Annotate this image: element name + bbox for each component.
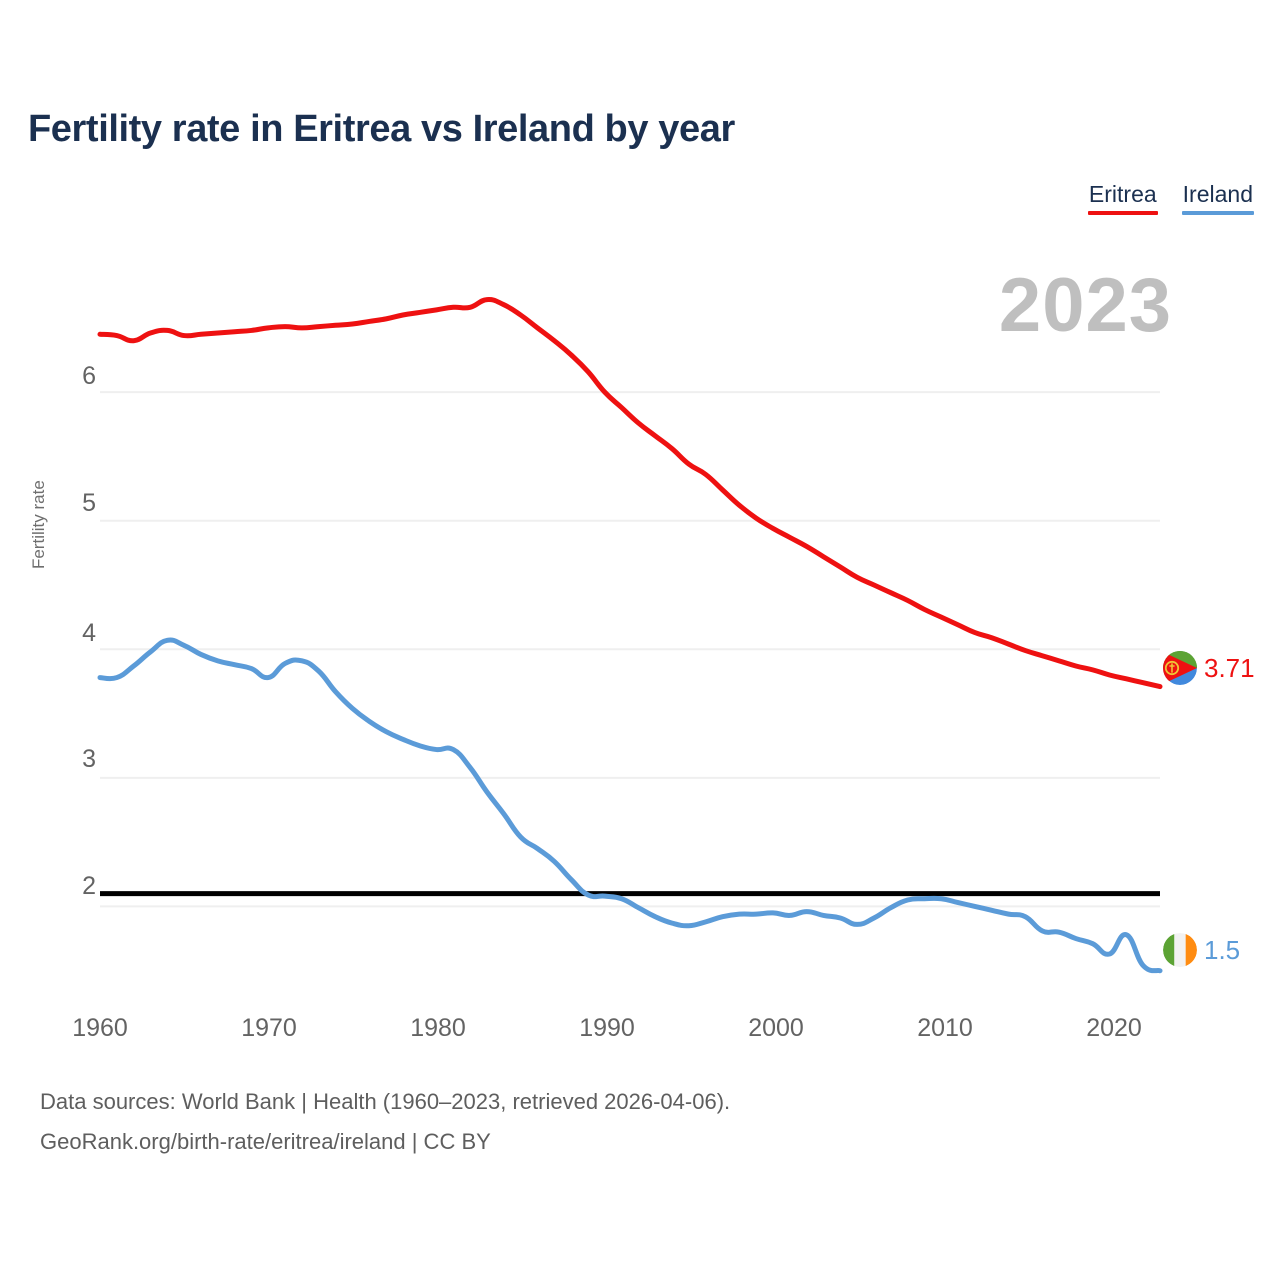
legend-swatch-eritrea	[1088, 211, 1158, 215]
legend-item-ireland[interactable]: Ireland	[1182, 183, 1254, 215]
end-marker-ireland[interactable]: 1.5	[1163, 933, 1240, 967]
eritrea-flag-icon	[1163, 651, 1197, 685]
end-value-ireland: 1.5	[1204, 937, 1240, 963]
legend-swatch-ireland	[1182, 211, 1254, 215]
y-tick-2: 2	[56, 872, 96, 901]
x-tick-2020: 2020	[1054, 1014, 1174, 1043]
y-tick-6: 6	[56, 362, 96, 391]
x-tick-1990: 1990	[547, 1014, 667, 1043]
y-axis-title: Fertility rate	[29, 409, 49, 569]
y-tick-4: 4	[56, 619, 96, 648]
legend-label-ireland: Ireland	[1182, 183, 1254, 211]
footer-line-1: Data sources: World Bank | Health (1960–…	[40, 1082, 730, 1122]
y-tick-3: 3	[56, 745, 96, 774]
x-tick-1960: 1960	[40, 1014, 160, 1043]
legend-label-eritrea: Eritrea	[1088, 183, 1158, 211]
x-tick-2000: 2000	[716, 1014, 836, 1043]
x-tick-2010: 2010	[885, 1014, 1005, 1043]
y-tick-5: 5	[56, 489, 96, 518]
page-title: Fertility rate in Eritrea vs Ireland by …	[28, 108, 735, 151]
x-tick-1980: 1980	[378, 1014, 498, 1043]
x-tick-1970: 1970	[209, 1014, 329, 1043]
ireland-flag-icon	[1163, 933, 1197, 967]
series-line-eritrea	[100, 299, 1160, 686]
gridlines	[100, 392, 1160, 906]
legend-item-eritrea[interactable]: Eritrea	[1088, 183, 1158, 215]
chart-legend: Eritrea Ireland	[1088, 183, 1254, 215]
end-marker-eritrea[interactable]: 3.71	[1163, 651, 1255, 685]
footer-credits: Data sources: World Bank | Health (1960–…	[40, 1082, 730, 1162]
series-line-ireland	[100, 640, 1160, 971]
end-value-eritrea: 3.71	[1204, 655, 1255, 681]
footer-line-2: GeoRank.org/birth-rate/eritrea/ireland |…	[40, 1122, 730, 1162]
year-watermark: 2023	[999, 268, 1172, 344]
chart-page: Fertility rate in Eritrea vs Ireland by …	[0, 0, 1280, 1280]
